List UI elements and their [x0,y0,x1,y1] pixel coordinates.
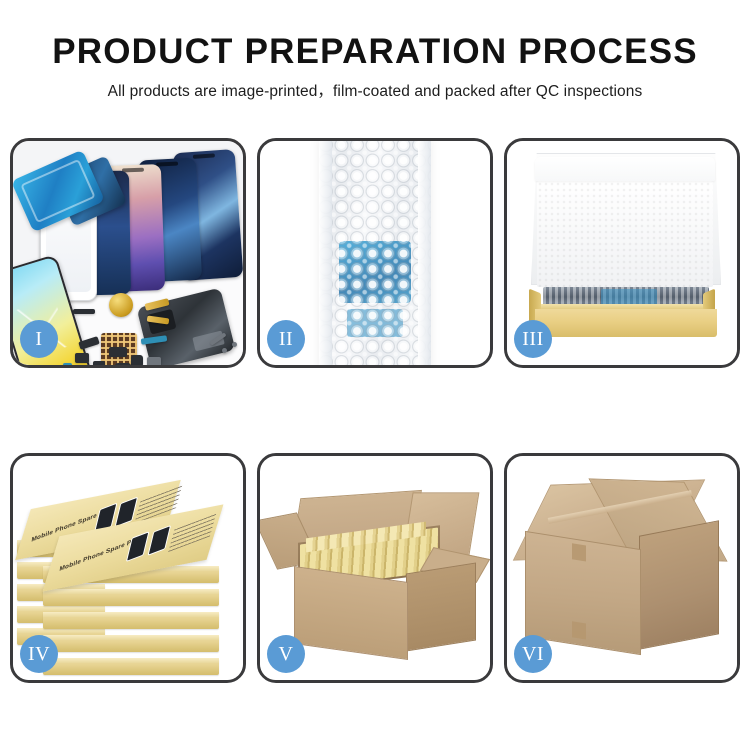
page-header: PRODUCT PREPARATION PROCESS All products… [0,0,750,104]
page-title: PRODUCT PREPARATION PROCESS [0,30,750,74]
wrap-seal-edge-left [319,141,332,365]
wrap-seal-edge-right [418,141,431,365]
bubble-texture [319,141,431,365]
foam-padding [537,181,713,287]
small-part [115,363,131,365]
step-panel-5[interactable]: V [257,453,493,683]
small-part [109,347,127,357]
screw-part [222,348,227,353]
carton-tape-tab [572,543,586,561]
notch-icon [156,162,178,167]
notch-icon [193,153,215,159]
box-edge [43,612,219,629]
step-badge-2: II [267,320,305,358]
small-part [75,353,89,363]
step-badge-1: I [20,320,58,358]
step-panel-6[interactable]: VI [504,453,740,683]
step-panel-3[interactable]: III [504,138,740,368]
carton-side-right [406,562,476,651]
step-panel-1[interactable]: I [10,138,246,368]
carton-front-panel [294,566,408,660]
step-badge-6: VI [514,635,552,673]
box-spec-lines [168,513,216,552]
step-panel-2[interactable]: II [257,138,493,368]
box-product-image [126,531,150,562]
box-edge [43,658,219,675]
process-step-grid: I II III [10,138,740,683]
carton-side-right [639,520,719,650]
small-part [131,355,143,365]
carton-tape-tab [572,621,586,639]
gold-coil-part [109,293,133,317]
step-badge-5: V [267,635,305,673]
page-subtitle: All products are image-printed，film-coat… [0,80,750,104]
screw-part [232,342,237,347]
step-badge-4: IV [20,635,58,673]
small-part [63,363,72,365]
box-front-panel [535,309,717,337]
small-part [147,357,161,365]
foam-padding-lip [535,157,715,181]
box-edge [43,589,219,606]
small-part [73,309,95,314]
step-panel-4[interactable]: Mobile Phone Spare Parts Mobile Phone Sp… [10,453,246,683]
box-edge [43,635,219,652]
small-part [93,361,105,365]
step-badge-3: III [514,320,552,358]
